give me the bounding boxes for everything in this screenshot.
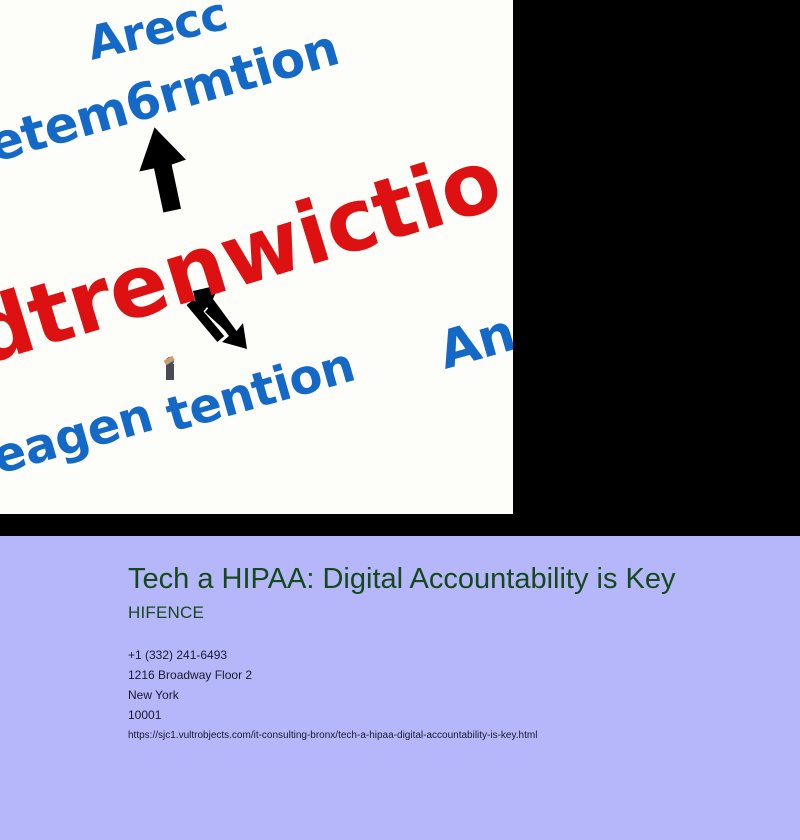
hero-image: Arecc etem6rmtion dtrenwictio eagen tent…: [0, 0, 513, 514]
contact-phone: +1 (332) 241-6493: [128, 645, 776, 665]
info-content: Tech a HIPAA: Digital Accountability is …: [128, 564, 776, 745]
page-root: Arecc etem6rmtion dtrenwictio eagen tent…: [0, 0, 800, 840]
contact-zip: 10001: [128, 705, 776, 725]
contact-block: +1 (332) 241-6493 1216 Broadway Floor 2 …: [128, 645, 776, 725]
contact-city: New York: [128, 685, 776, 705]
source-url-link[interactable]: https://sjc1.vultrobjects.com/it-consult…: [128, 727, 776, 745]
brand-name: HIFENCE: [128, 603, 776, 623]
page-title: Tech a HIPAA: Digital Accountability is …: [128, 564, 698, 595]
info-panel: Tech a HIPAA: Digital Accountability is …: [0, 536, 800, 840]
contact-street: 1216 Broadway Floor 2: [128, 665, 776, 685]
